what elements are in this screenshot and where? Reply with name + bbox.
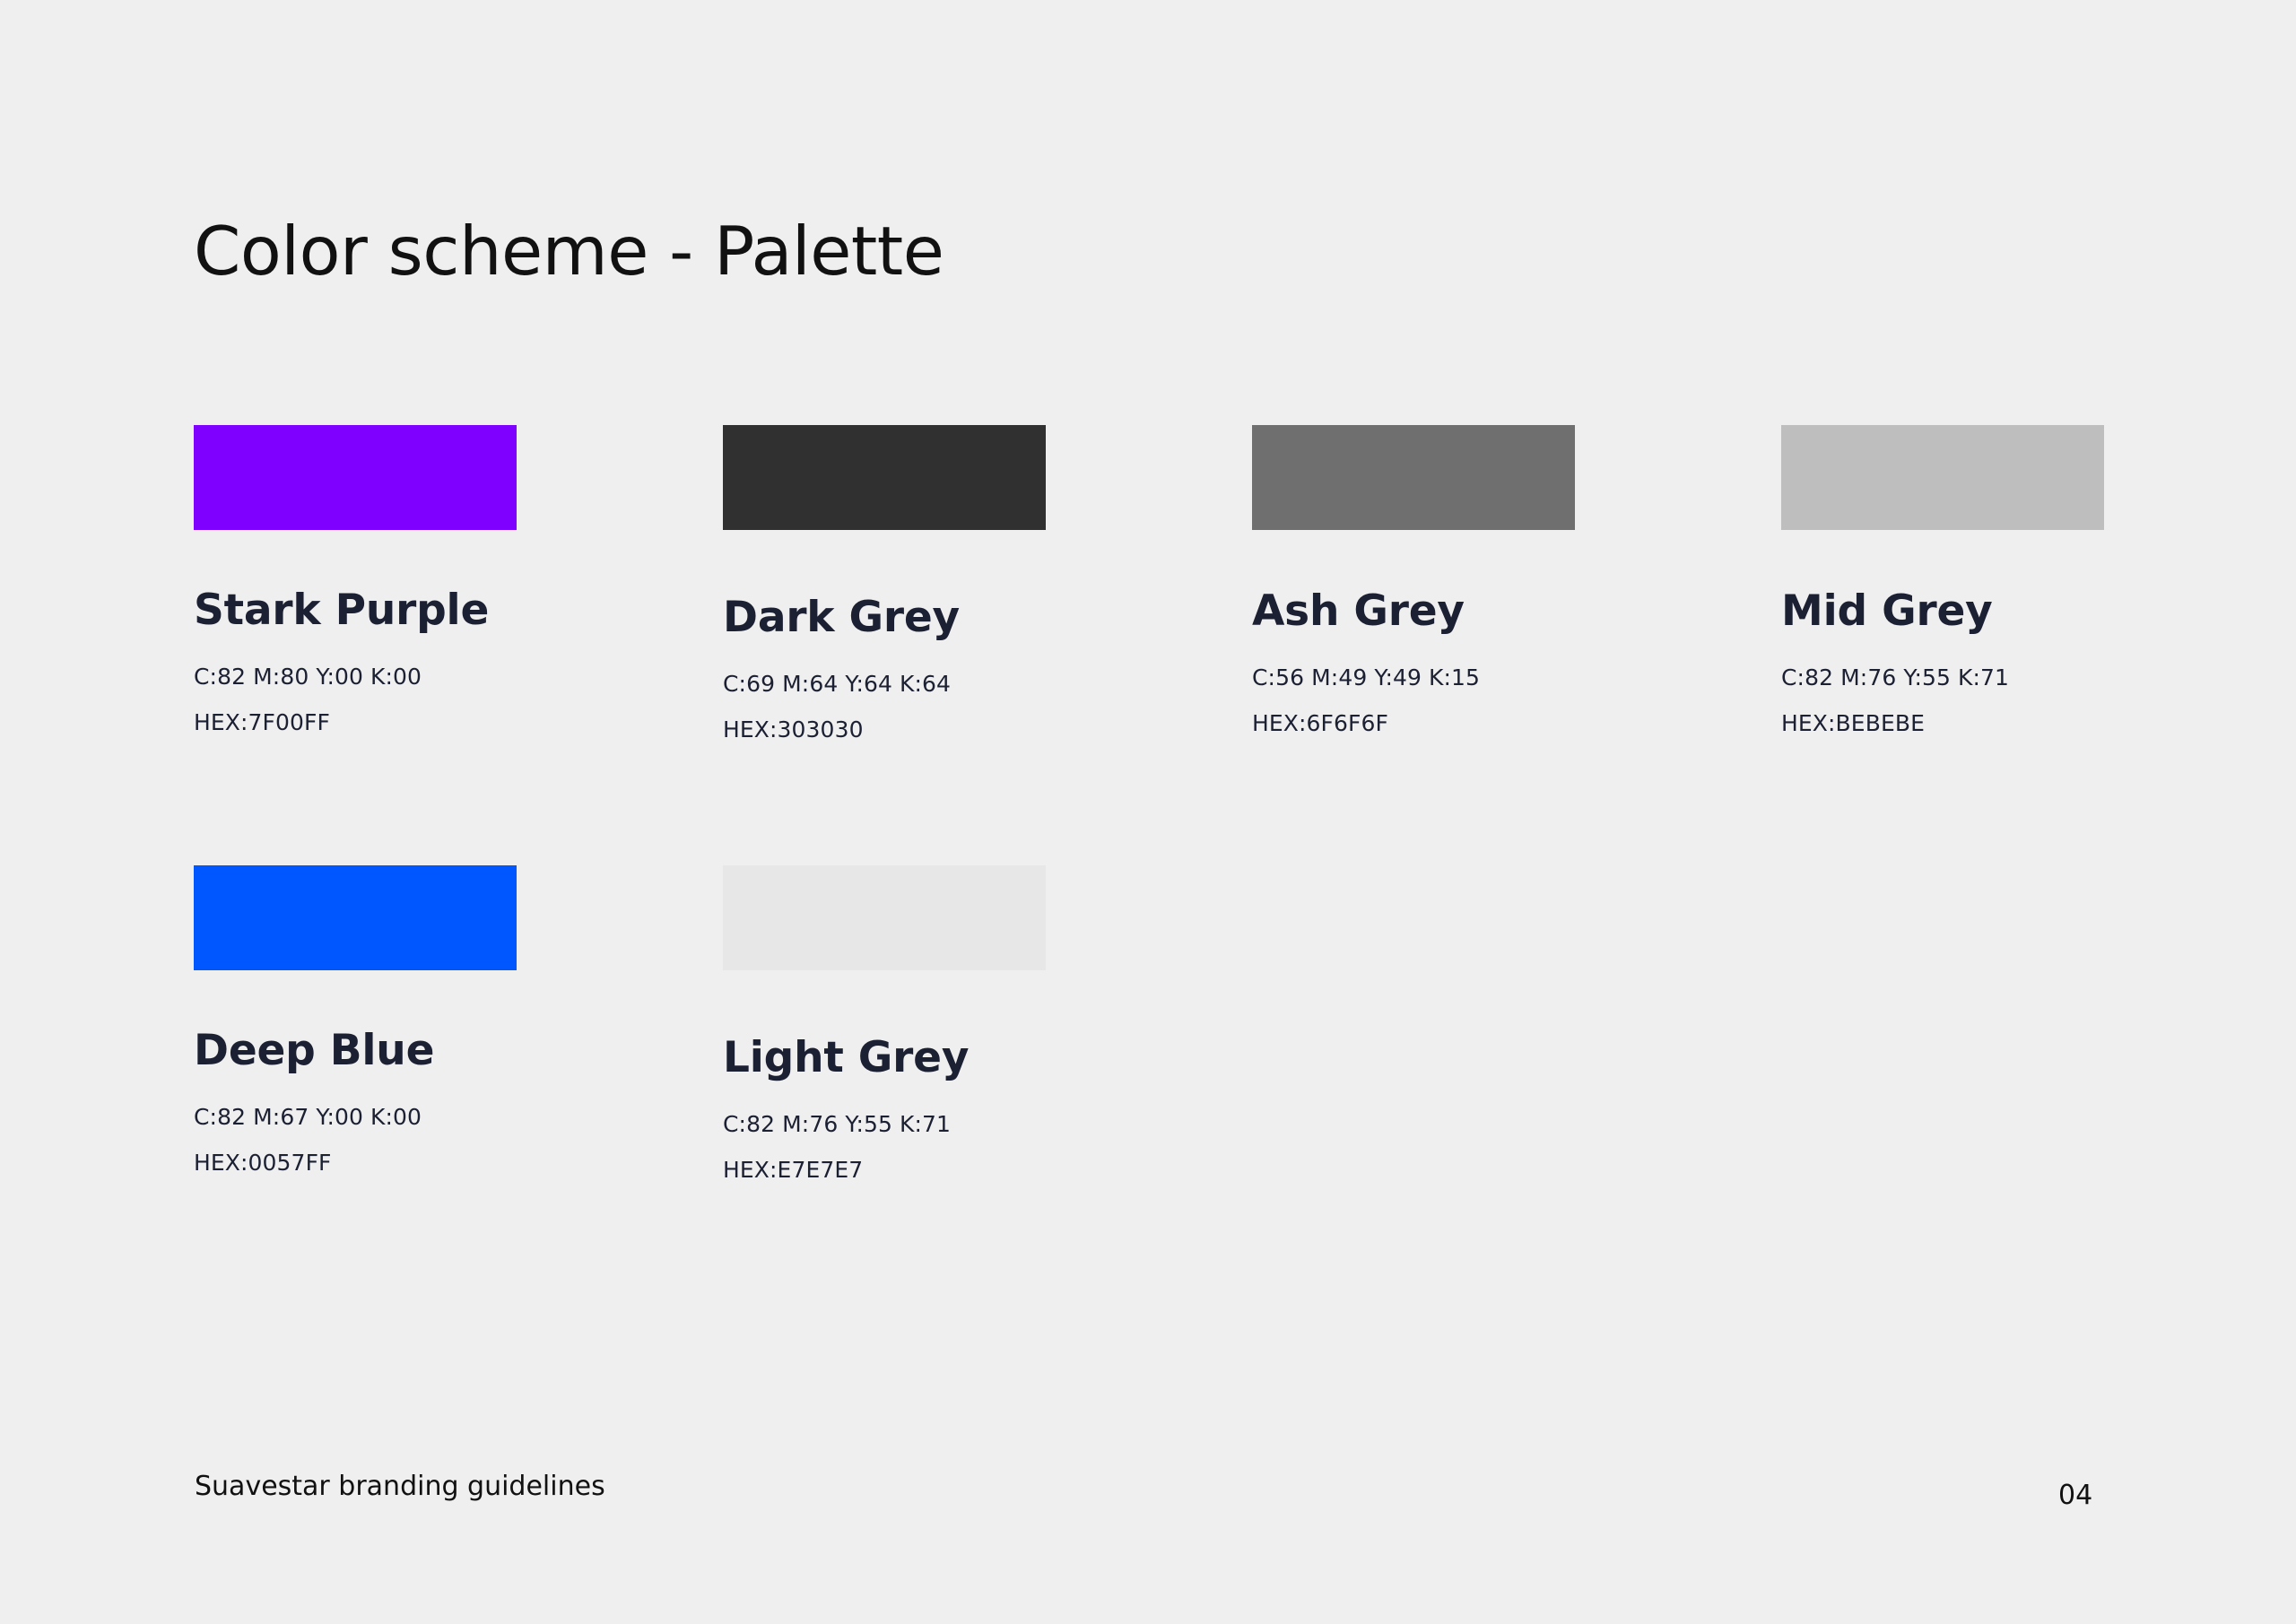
swatch-card-stark-purple: Stark Purple C:82 M:80 Y:00 K:00 HEX:7F0… (194, 425, 732, 735)
color-chip-stark-purple (194, 425, 517, 530)
swatch-cmyk-value: C:69 M:64 Y:64 K:64 (723, 671, 1261, 697)
swatch-name: Light Grey (723, 1033, 1261, 1082)
swatch-hex-value: HEX:6F6F6F (1252, 710, 1790, 736)
footer-note: Suavestar branding guidelines (195, 1471, 605, 1502)
color-chip-light-grey (723, 865, 1046, 970)
swatch-name: Deep Blue (194, 1026, 732, 1075)
swatch-name: Stark Purple (194, 586, 732, 635)
color-chip-dark-grey (723, 425, 1046, 530)
swatch-cmyk-value: C:82 M:80 Y:00 K:00 (194, 664, 732, 690)
color-chip-deep-blue (194, 865, 517, 970)
swatch-name: Ash Grey (1252, 586, 1790, 636)
swatch-card-mid-grey: Mid Grey C:82 M:76 Y:55 K:71 HEX:BEBEBE (1781, 425, 2296, 736)
swatch-card-ash-grey: Ash Grey C:56 M:49 Y:49 K:15 HEX:6F6F6F (1252, 425, 1790, 736)
slide-canvas: Color scheme - Palette Stark Purple C:82… (0, 0, 2296, 1624)
swatch-cmyk-value: C:82 M:76 Y:55 K:71 (1781, 664, 2296, 690)
color-chip-ash-grey (1252, 425, 1575, 530)
swatch-cmyk-value: C:56 M:49 Y:49 K:15 (1252, 664, 1790, 690)
swatch-name: Dark Grey (723, 593, 1261, 642)
swatch-card-deep-blue: Deep Blue C:82 M:67 Y:00 K:00 HEX:0057FF (194, 865, 732, 1176)
swatch-hex-value: HEX:0057FF (194, 1150, 732, 1176)
color-palette-grid: Stark Purple C:82 M:80 Y:00 K:00 HEX:7F0… (0, 0, 2296, 1624)
color-chip-mid-grey (1781, 425, 2104, 530)
swatch-card-dark-grey: Dark Grey C:69 M:64 Y:64 K:64 HEX:303030 (723, 425, 1261, 743)
swatch-cmyk-value: C:82 M:67 Y:00 K:00 (194, 1104, 732, 1130)
swatch-cmyk-value: C:82 M:76 Y:55 K:71 (723, 1111, 1261, 1137)
swatch-hex-value: HEX:E7E7E7 (723, 1157, 1261, 1183)
swatch-card-light-grey: Light Grey C:82 M:76 Y:55 K:71 HEX:E7E7E… (723, 865, 1261, 1183)
swatch-name: Mid Grey (1781, 586, 2296, 636)
swatch-hex-value: HEX:BEBEBE (1781, 710, 2296, 736)
swatch-hex-value: HEX:303030 (723, 716, 1261, 743)
page-number: 04 (2058, 1480, 2092, 1511)
swatch-hex-value: HEX:7F00FF (194, 709, 732, 735)
